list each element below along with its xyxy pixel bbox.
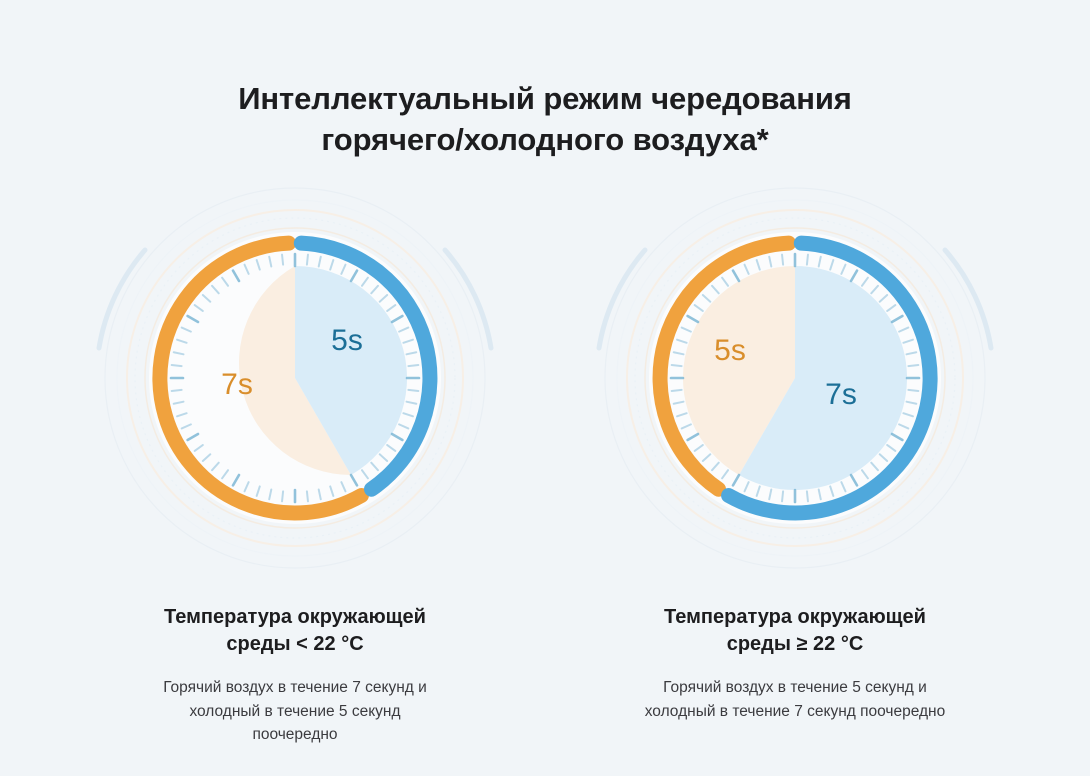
description-line-1: Горячий воздух в течение 5 секунд и (645, 676, 946, 699)
caption-line-2: среды ≥ 22 °C (664, 631, 926, 658)
description-line-2: холодный в течение 7 секунд поочередно (645, 700, 946, 723)
gauge-svg-left: 7s 5s (85, 178, 505, 578)
gauge-tick (408, 365, 418, 366)
panels-container: 7s 5s Температура окружающей среды < 22 … (0, 178, 1090, 746)
gauge-hot-label-left: 7s (221, 368, 253, 401)
gauge-svg-right: 5s 7s (585, 178, 1005, 578)
page-title-line-1: Интеллектуальный режим чередования (0, 78, 1090, 119)
gauge-tick (782, 492, 783, 502)
gauge-tick (282, 255, 283, 265)
gauge-hot-label-right: 5s (714, 334, 746, 367)
caption-warm-ambient: Температура окружающей среды ≥ 22 °C (664, 604, 926, 658)
caption-line-1: Температура окружающей (664, 604, 926, 631)
gauge-cold-ambient: 7s 5s (85, 178, 505, 578)
page-title: Интеллектуальный режим чередования горяч… (0, 0, 1090, 160)
description-cold-ambient: Горячий воздух в течение 7 секунд и холо… (163, 676, 427, 746)
description-line-2: холодный в течение 5 секунд (163, 700, 427, 723)
panel-cold-ambient: 7s 5s Температура окружающей среды < 22 … (45, 178, 545, 746)
gauge-tick (782, 255, 783, 265)
gauge-tick (807, 492, 808, 502)
gauge-tick (408, 390, 418, 391)
caption-line-2: среды < 22 °C (164, 631, 426, 658)
description-line-3: поочередно (163, 723, 427, 746)
panel-warm-ambient: 5s 7s Температура окружающей среды ≥ 22 … (545, 178, 1045, 723)
description-warm-ambient: Горячий воздух в течение 5 секунд и холо… (645, 676, 946, 723)
caption-cold-ambient: Температура окружающей среды < 22 °C (164, 604, 426, 658)
description-line-1: Горячий воздух в течение 7 секунд и (163, 676, 427, 699)
gauge-tick (672, 365, 682, 366)
page-title-line-2: горячего/холодного воздуха* (0, 119, 1090, 160)
gauge-tick (172, 390, 182, 391)
gauge-tick (908, 390, 918, 391)
gauge-cold-label-right: 7s (825, 378, 857, 411)
gauge-tick (307, 492, 308, 502)
gauge-tick (307, 255, 308, 265)
gauge-tick (807, 255, 808, 265)
gauge-tick (672, 390, 682, 391)
gauge-cold-label-left: 5s (331, 324, 363, 357)
gauge-tick (908, 365, 918, 366)
caption-line-1: Температура окружающей (164, 604, 426, 631)
gauge-tick (282, 492, 283, 502)
gauge-warm-ambient: 5s 7s (585, 178, 1005, 578)
gauge-tick (172, 365, 182, 366)
infographic-page: Интеллектуальный режим чередования горяч… (0, 0, 1090, 776)
